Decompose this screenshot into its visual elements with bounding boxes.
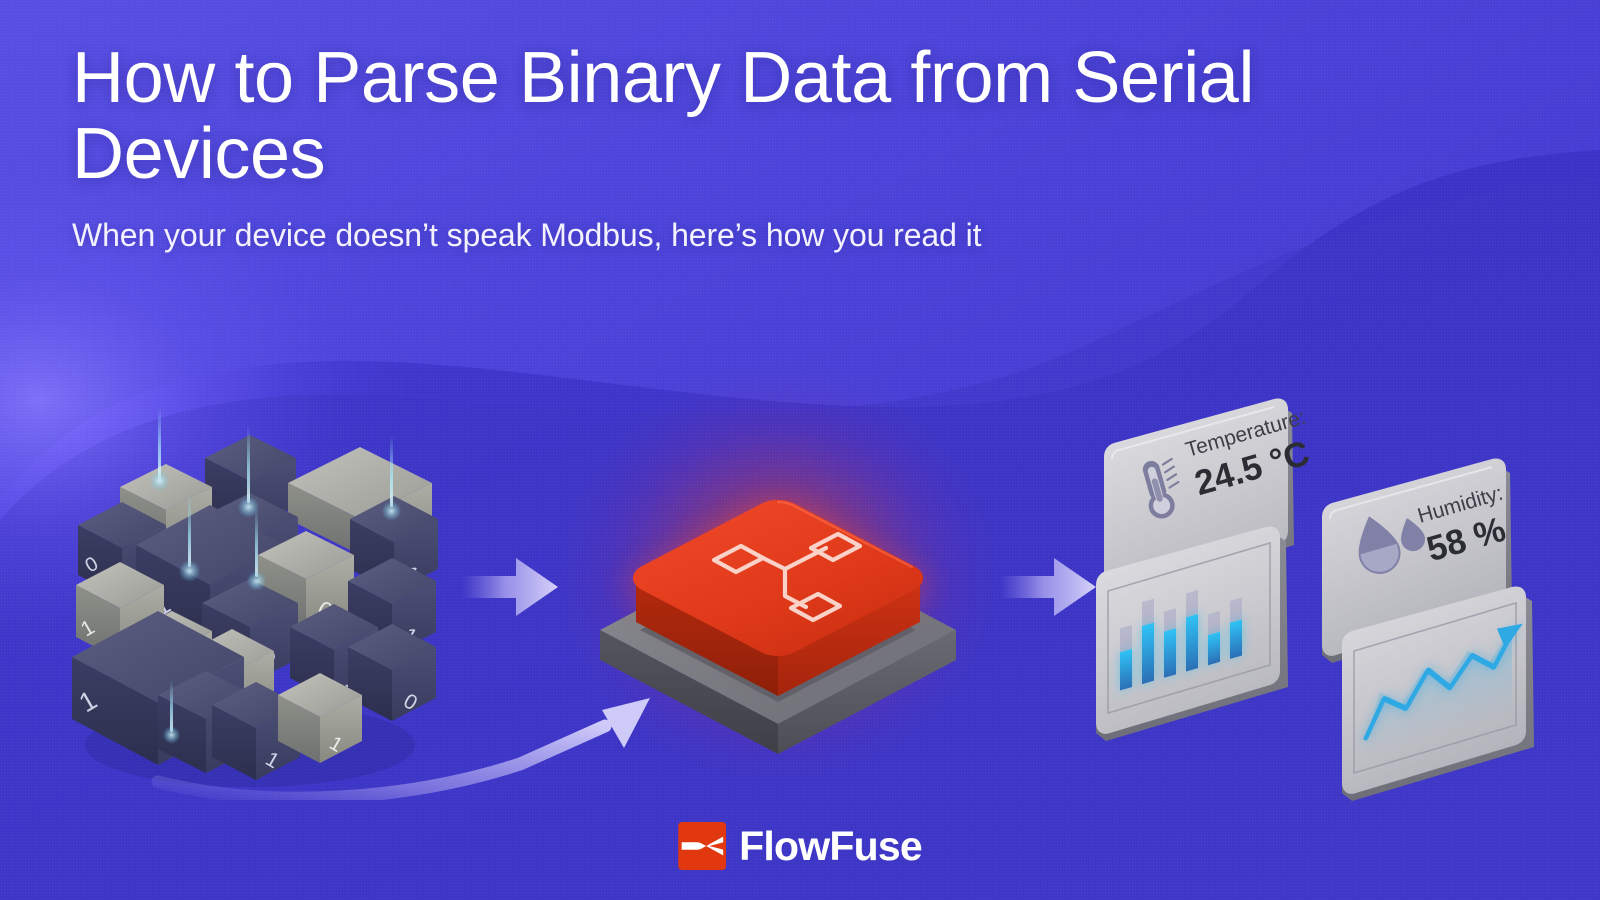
flowfuse-logo-text: FlowFuse: [739, 826, 922, 867]
dashboard-cards-group: Temperature: 24.5 °C Humidity: 5: [1090, 395, 1560, 815]
node-red-processor-chip: [578, 408, 978, 758]
arrow-cube-to-chip: [462, 548, 562, 626]
header-block: How to Parse Binary Data from Serial Dev…: [72, 40, 1472, 255]
flowfuse-logo[interactable]: FlowFuse: [678, 822, 922, 870]
cover-stage: How to Parse Binary Data from Serial Dev…: [0, 0, 1600, 900]
page-title: How to Parse Binary Data from Serial Dev…: [72, 40, 1402, 193]
arrow-chip-to-dashboard: [1000, 548, 1100, 626]
flowfuse-merge-icon: [678, 822, 726, 870]
page-subtitle: When your device doesn’t speak Modbus, h…: [72, 215, 1472, 255]
